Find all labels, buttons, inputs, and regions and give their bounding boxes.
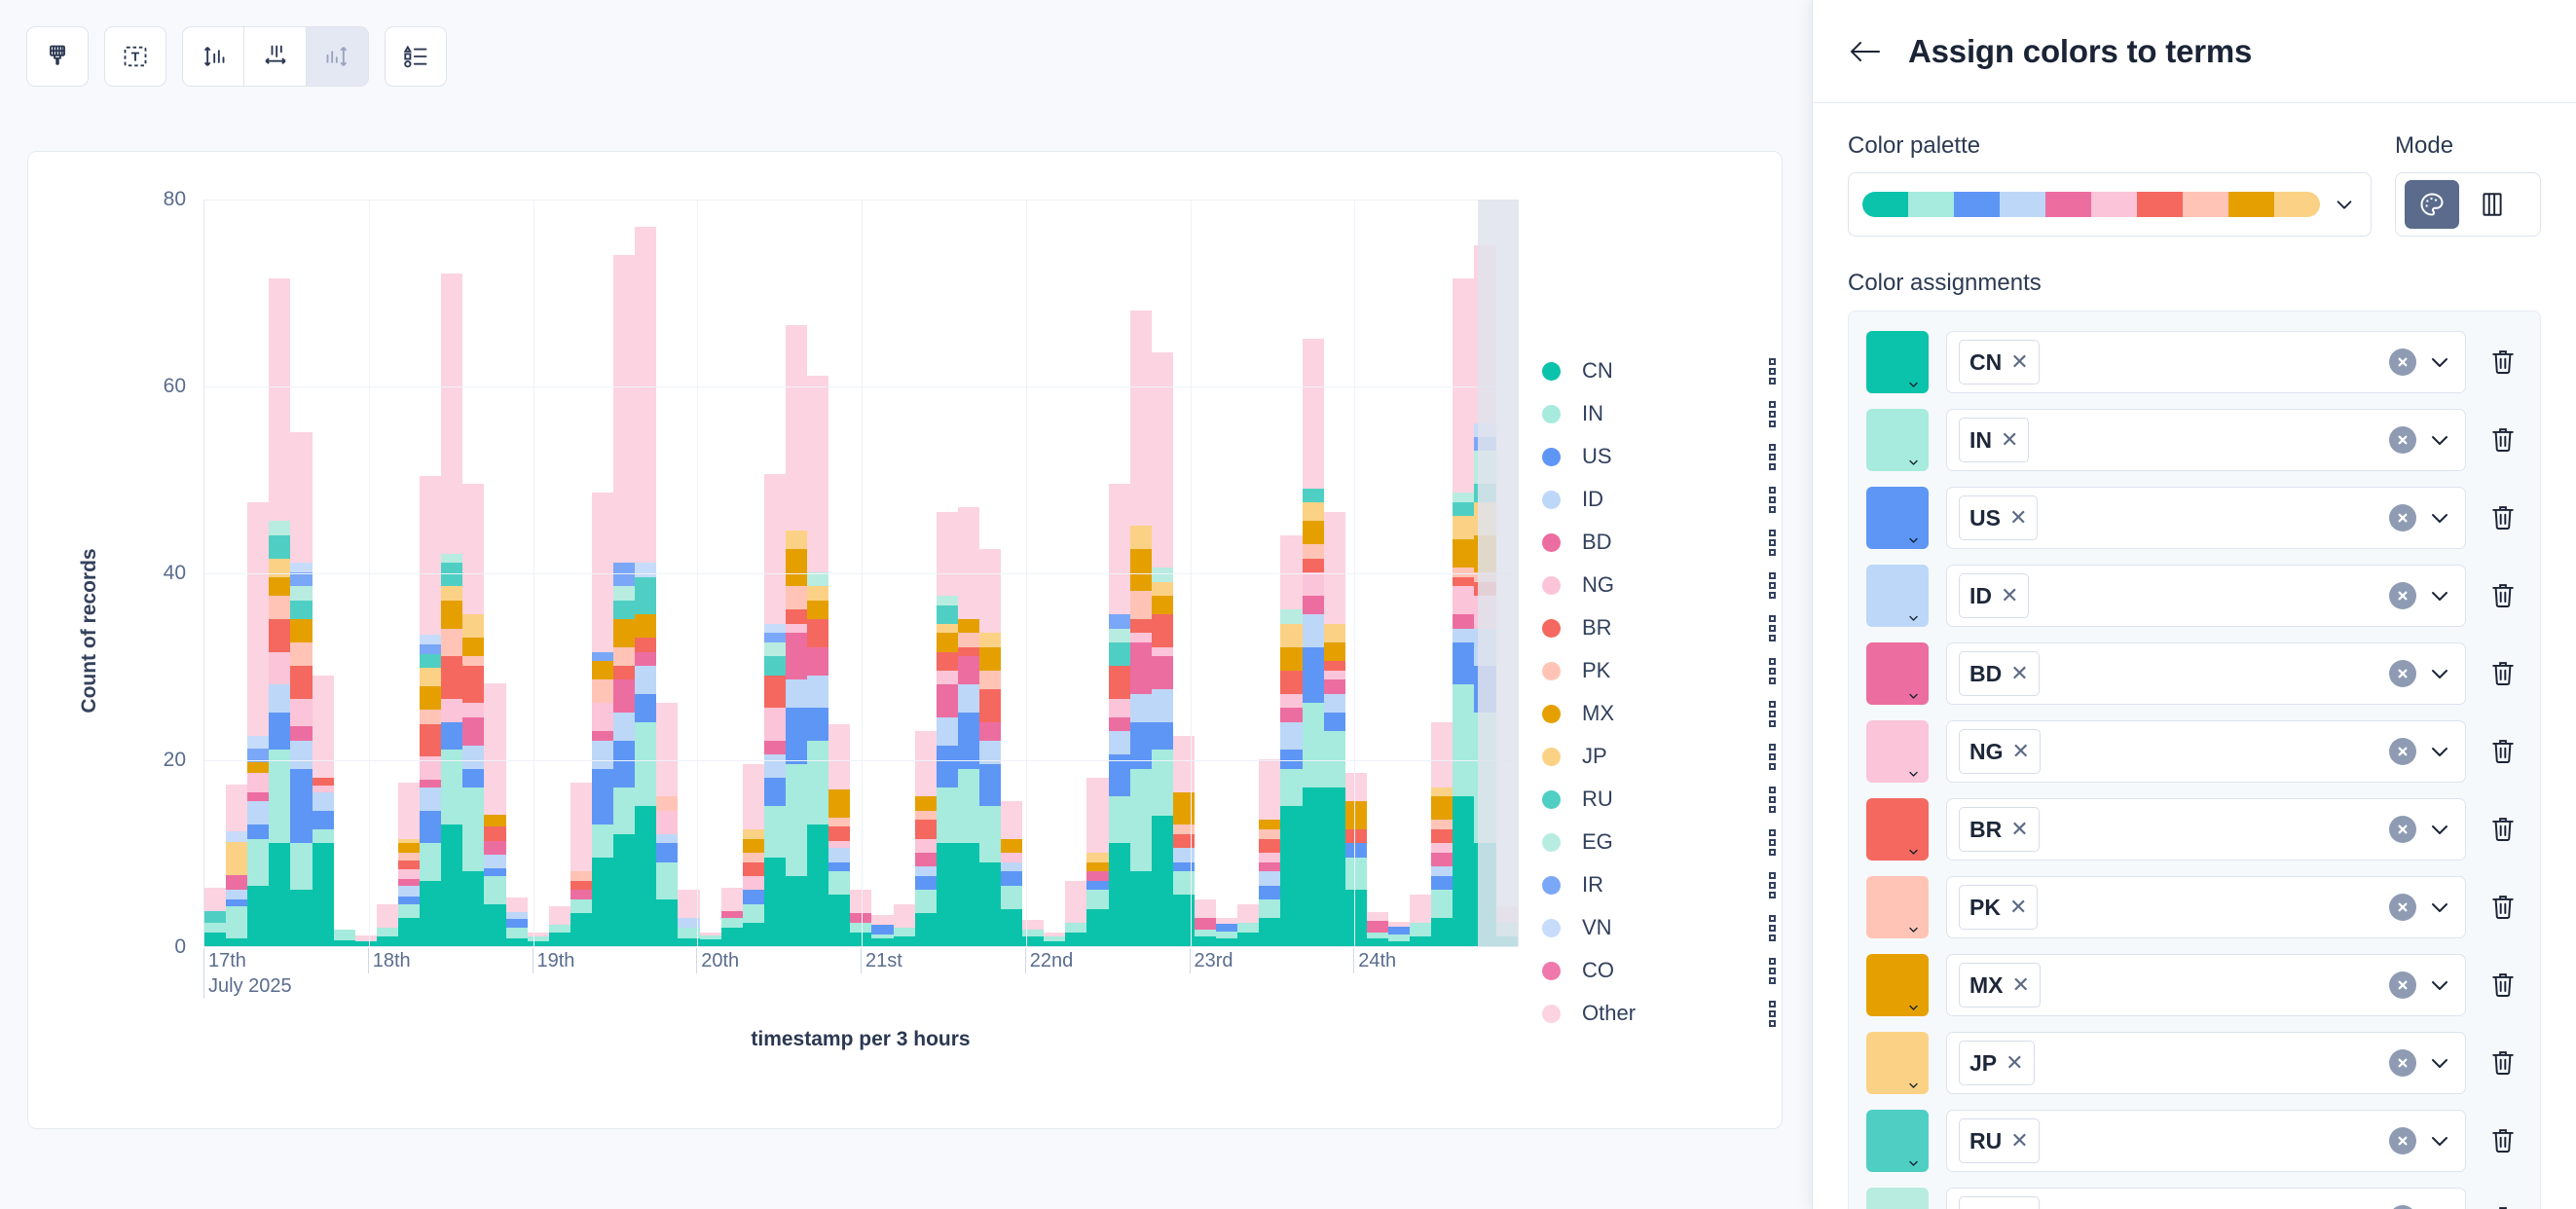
bar-segment[interactable] (828, 724, 850, 789)
bar-segment[interactable] (700, 939, 721, 946)
bar-segment[interactable] (462, 871, 484, 946)
bar-segment[interactable] (1453, 586, 1474, 614)
bar-segment[interactable] (462, 614, 484, 638)
bar-segment[interactable] (1130, 526, 1152, 549)
bar-segment[interactable] (269, 619, 290, 652)
delete-assignment-button[interactable] (2484, 425, 2522, 455)
arrow-left-icon[interactable] (1848, 38, 1881, 65)
bar-segment[interactable] (506, 919, 528, 928)
term-combobox[interactable]: BR✕ (1946, 798, 2466, 861)
clear-circle-icon[interactable] (2389, 660, 2416, 687)
bar-segment[interactable] (204, 888, 226, 911)
bar-segment[interactable] (592, 703, 613, 731)
bar-segment[interactable] (1280, 647, 1302, 671)
bar-segment[interactable] (1324, 679, 1345, 693)
bar-segment[interactable] (764, 624, 786, 634)
bar-segment[interactable] (1431, 876, 1453, 890)
clear-circle-icon[interactable] (2389, 426, 2416, 454)
bar-segment[interactable] (958, 843, 979, 946)
term-combobox[interactable]: NG✕ (1946, 720, 2466, 783)
bar-segment[interactable] (656, 796, 678, 810)
legend-item-bd[interactable]: BD (1542, 521, 1776, 564)
bar-segment[interactable] (1324, 661, 1345, 671)
bar-segment[interactable] (1324, 788, 1345, 946)
bar-segment[interactable] (1152, 689, 1173, 722)
bar-segment[interactable] (764, 656, 786, 675)
bar-segment[interactable] (1259, 871, 1280, 885)
bar-segment[interactable] (915, 913, 937, 946)
bar-segment[interactable] (1130, 722, 1152, 769)
bar-segment[interactable] (1280, 609, 1302, 623)
bar-segment[interactable] (937, 596, 958, 605)
bar-segment[interactable] (613, 586, 635, 600)
bar-segment[interactable] (1388, 927, 1410, 935)
bar-segment[interactable] (1216, 938, 1237, 946)
delete-assignment-button[interactable] (2484, 971, 2522, 1000)
bar-segment[interactable] (269, 843, 290, 946)
bar-segment[interactable] (1431, 866, 1453, 876)
bar-segment[interactable] (1303, 521, 1324, 544)
bar-segment[interactable] (506, 938, 528, 946)
color-palette-select[interactable] (1848, 172, 2372, 237)
legend-item-vn[interactable]: VN (1542, 906, 1776, 949)
bar-segment[interactable] (226, 899, 247, 906)
bar-segment[interactable] (1001, 839, 1022, 853)
bar-segment[interactable] (1152, 568, 1173, 581)
bar-segment[interactable] (828, 789, 850, 818)
bar-segment[interactable] (1130, 642, 1152, 694)
remove-term-icon[interactable]: ✕ (2010, 817, 2028, 842)
bar-segment[interactable] (269, 652, 290, 685)
delete-assignment-button[interactable] (2484, 581, 2522, 610)
bar-segment[interactable] (570, 913, 592, 946)
bar-segment[interactable] (613, 255, 635, 564)
bar-segment[interactable] (1431, 722, 1453, 788)
bar-segment[interactable] (462, 746, 484, 769)
remove-term-icon[interactable]: ✕ (2010, 349, 2028, 375)
bar-segment[interactable] (226, 938, 247, 946)
bar-segment[interactable] (635, 638, 656, 651)
bar-segment[interactable] (1303, 502, 1324, 521)
bar-segment[interactable] (1130, 769, 1152, 872)
bar-segment[interactable] (290, 769, 312, 844)
legend-item-id[interactable]: ID (1542, 478, 1776, 521)
bar-segment[interactable] (1280, 671, 1302, 694)
bar-segment[interactable] (247, 824, 269, 838)
chevron-down-icon[interactable] (2428, 740, 2451, 763)
bar-segment[interactable] (786, 708, 807, 764)
chevron-down-icon[interactable] (2428, 1129, 2451, 1153)
bar-segment[interactable] (721, 911, 743, 919)
bar-segment[interactable] (269, 684, 290, 713)
bar-segment[interactable] (313, 829, 334, 843)
legend-more-options-icon[interactable] (1769, 658, 1776, 684)
bar-segment[interactable] (613, 666, 635, 679)
bar-segment[interactable] (1259, 820, 1280, 829)
bar-segment[interactable] (226, 906, 247, 939)
bar-segment[interactable] (1195, 899, 1216, 918)
bar-segment[interactable] (592, 679, 613, 703)
bar-segment[interactable] (549, 925, 570, 933)
bar-segment[interactable] (786, 325, 807, 531)
bar-segment[interactable] (1109, 731, 1130, 754)
bar-segment[interactable] (656, 811, 678, 834)
delete-assignment-button[interactable] (2484, 737, 2522, 766)
bar-segment[interactable] (1109, 717, 1130, 731)
bar-segment[interactable] (656, 834, 678, 844)
bar-segment[interactable] (398, 783, 420, 839)
bar-segment[interactable] (1259, 862, 1280, 872)
legend-more-options-icon[interactable] (1769, 958, 1776, 984)
bar-segment[interactable] (1303, 572, 1324, 596)
term-combobox[interactable]: RU✕ (1946, 1110, 2466, 1172)
bar-segment[interactable] (1173, 895, 1195, 946)
clear-circle-icon[interactable] (2389, 738, 2416, 765)
bar-segment[interactable] (420, 654, 441, 668)
bar-segment[interactable] (1173, 736, 1195, 792)
bar-segment[interactable] (204, 933, 226, 946)
bar-segment[interactable] (1303, 703, 1324, 787)
bar-segment[interactable] (462, 788, 484, 871)
bar-segment[interactable] (1453, 629, 1474, 642)
bar-segment[interactable] (764, 676, 786, 709)
term-combobox[interactable]: IN✕ (1946, 409, 2466, 471)
bar-segment[interactable] (549, 933, 570, 946)
bar-segment[interactable] (1303, 788, 1324, 946)
bar-segment[interactable] (786, 679, 807, 708)
bar-segment[interactable] (786, 549, 807, 586)
bar-segment[interactable] (398, 861, 420, 870)
bar-segment[interactable] (937, 746, 958, 788)
bar-segment[interactable] (807, 824, 828, 946)
bar-segment[interactable] (915, 796, 937, 810)
delete-assignment-button[interactable] (2484, 815, 2522, 844)
bar-segment[interactable] (570, 783, 592, 871)
bar-segment[interactable] (1453, 614, 1474, 628)
bar-segment[interactable] (1130, 591, 1152, 619)
legend-item-other[interactable]: Other (1542, 992, 1776, 1035)
bar-segment[interactable] (592, 824, 613, 858)
bar-segment[interactable] (764, 754, 786, 778)
legend-more-options-icon[interactable] (1769, 444, 1776, 470)
bar-segment[interactable] (1195, 918, 1216, 930)
bar-segment[interactable] (462, 717, 484, 746)
bar-segment[interactable] (937, 624, 958, 634)
legend-item-ru[interactable]: RU (1542, 778, 1776, 821)
bar-segment[interactable] (247, 792, 269, 802)
bar-segment[interactable] (269, 750, 290, 843)
bar-segment[interactable] (592, 652, 613, 662)
bar-segment[interactable] (1431, 829, 1453, 843)
bar-segment[interactable] (226, 785, 247, 831)
bar-segment[interactable] (656, 843, 678, 861)
bar-segment[interactable] (313, 676, 334, 779)
legend-more-options-icon[interactable] (1769, 744, 1776, 770)
bar-segment[interactable] (871, 925, 893, 934)
bar-segment[interactable] (290, 601, 312, 619)
bar-segment[interactable] (1345, 890, 1367, 946)
bar-segment[interactable] (1237, 923, 1259, 933)
bar-segment[interactable] (1453, 493, 1474, 502)
bar-segment[interactable] (247, 762, 269, 774)
clear-circle-icon[interactable] (2389, 1049, 2416, 1077)
bar-segment[interactable] (1086, 890, 1108, 908)
bar-segment[interactable] (420, 811, 441, 844)
delete-assignment-button[interactable] (2484, 1204, 2522, 1209)
stack-vertical-icon-button[interactable] (307, 26, 369, 87)
bar-segment[interactable] (420, 635, 441, 644)
bar-segment[interactable] (764, 474, 786, 624)
bar-segment[interactable] (1280, 708, 1302, 721)
bar-segment[interactable] (807, 647, 828, 676)
bar-segment[interactable] (398, 918, 420, 946)
bar-segment[interactable] (1001, 853, 1022, 862)
bar-segment[interactable] (807, 619, 828, 647)
bar-segment[interactable] (269, 535, 290, 559)
bar-segment[interactable] (1195, 930, 1216, 937)
clear-circle-icon[interactable] (2389, 504, 2416, 531)
bar-segment[interactable] (743, 764, 764, 829)
bar-segment[interactable] (1367, 921, 1388, 933)
legend-more-options-icon[interactable] (1769, 401, 1776, 427)
bar-segment[interactable] (204, 911, 226, 923)
bar-segment[interactable] (398, 886, 420, 898)
term-combobox[interactable]: JP✕ (1946, 1032, 2466, 1094)
bar-segment[interactable] (1109, 629, 1130, 642)
legend-item-mx[interactable]: MX (1542, 692, 1776, 735)
bar-segment[interactable] (226, 842, 247, 875)
bar-segment[interactable] (1324, 624, 1345, 642)
bar-segment[interactable] (635, 614, 656, 638)
brush-icon-button[interactable] (26, 26, 89, 87)
bar-segment[interactable] (807, 376, 828, 572)
bar-segment[interactable] (1280, 722, 1302, 751)
bar-segment[interactable] (937, 671, 958, 684)
bar-segment[interactable] (786, 586, 807, 609)
bar-segment[interactable] (398, 869, 420, 879)
bar-segment[interactable] (743, 904, 764, 923)
clear-circle-icon[interactable] (2389, 894, 2416, 921)
bar-segment[interactable] (635, 652, 656, 666)
bar-segment[interactable] (915, 866, 937, 876)
remove-term-icon[interactable]: ✕ (2009, 505, 2027, 531)
bar-segment[interactable] (506, 898, 528, 911)
bar-segment[interactable] (1388, 934, 1410, 941)
bar-segment[interactable] (1345, 858, 1367, 891)
bar-segment[interactable] (1431, 843, 1453, 853)
bar-segment[interactable] (1130, 619, 1152, 633)
bar-segment[interactable] (204, 923, 226, 933)
bar-segment[interactable] (420, 724, 441, 757)
bar-segment[interactable] (937, 633, 958, 651)
bar-segment[interactable] (1130, 694, 1152, 722)
bar-segment[interactable] (743, 890, 764, 903)
remove-term-icon[interactable]: ✕ (2009, 895, 2027, 920)
bar-segment[interactable] (1086, 881, 1108, 891)
bar-segment[interactable] (441, 563, 462, 586)
bar-segment[interactable] (979, 689, 1001, 722)
bar-segment[interactable] (1303, 544, 1324, 558)
bar-segment[interactable] (484, 904, 505, 946)
bar-segment[interactable] (420, 843, 441, 880)
legend-more-options-icon[interactable] (1769, 572, 1776, 599)
bar-segment[interactable] (1259, 759, 1280, 820)
bar-segment[interactable] (441, 601, 462, 629)
bar-segment[interactable] (894, 936, 915, 946)
bar-segment[interactable] (764, 858, 786, 946)
bar-segment[interactable] (721, 918, 743, 928)
bar-segment[interactable] (1259, 918, 1280, 946)
bar-segment[interactable] (743, 923, 764, 946)
bar-segment[interactable] (937, 843, 958, 946)
bar-segment[interactable] (398, 843, 420, 853)
bar-segment[interactable] (462, 769, 484, 788)
bar-segment[interactable] (721, 928, 743, 946)
chevron-down-icon[interactable] (2428, 818, 2451, 841)
bar-segment[interactable] (549, 906, 570, 925)
bar-segment[interactable] (1410, 923, 1431, 936)
bar-segment[interactable] (420, 710, 441, 723)
legend-item-br[interactable]: BR (1542, 606, 1776, 649)
bar-segment[interactable] (915, 820, 937, 838)
gradient-mode-icon-button[interactable] (2465, 180, 2520, 229)
bar-segment[interactable] (1453, 516, 1474, 539)
bar-segment[interactable] (570, 881, 592, 891)
legend-item-pk[interactable]: PK (1542, 649, 1776, 692)
bar-segment[interactable] (1086, 778, 1108, 853)
bar-segment[interactable] (764, 806, 786, 858)
sort-vertical-icon-button[interactable] (182, 26, 244, 87)
bar-segment[interactable] (678, 928, 699, 939)
bar-segment[interactable] (958, 633, 979, 646)
bar-segment[interactable] (1453, 539, 1474, 568)
bar-segment[interactable] (915, 876, 937, 890)
bar-segment[interactable] (290, 572, 312, 586)
legend-item-cn[interactable]: CN (1542, 349, 1776, 392)
bar-segment[interactable] (570, 899, 592, 913)
remove-term-icon[interactable]: ✕ (2006, 1050, 2023, 1076)
bar-segment[interactable] (1324, 642, 1345, 661)
bar-segment[interactable] (1303, 489, 1324, 502)
bar-segment[interactable] (377, 936, 398, 946)
bar-segment[interactable] (937, 788, 958, 844)
bar-segment[interactable] (1109, 642, 1130, 666)
bar-segment[interactable] (1152, 582, 1173, 596)
bar-segment[interactable] (635, 694, 656, 722)
bar-segment[interactable] (1173, 792, 1195, 825)
bar-segment[interactable] (1280, 624, 1302, 647)
bar-segment[interactable] (269, 278, 290, 522)
remove-term-icon[interactable]: ✕ (2001, 583, 2018, 608)
bar-segment[interactable] (1109, 666, 1130, 699)
delete-assignment-button[interactable] (2484, 1126, 2522, 1155)
bar-segment[interactable] (420, 788, 441, 811)
bar-segment[interactable] (592, 858, 613, 946)
bar-segment[interactable] (226, 875, 247, 890)
bar-segment[interactable] (247, 801, 269, 824)
bar-segment[interactable] (1453, 796, 1474, 946)
remove-term-icon[interactable]: ✕ (2012, 972, 2030, 998)
bar-segment[interactable] (1065, 881, 1086, 923)
bar-segment[interactable] (1388, 941, 1410, 946)
bar-segment[interactable] (1130, 311, 1152, 526)
bar-segment[interactable] (592, 731, 613, 741)
bar-segment[interactable] (1130, 633, 1152, 642)
bar-segment[interactable] (979, 722, 1001, 741)
bar-segment[interactable] (958, 647, 979, 657)
color-swatch-picker[interactable] (1866, 487, 1929, 549)
bar-segment[interactable] (635, 577, 656, 614)
bar-segment[interactable] (506, 928, 528, 939)
legend-more-options-icon[interactable] (1769, 872, 1776, 898)
text-box-icon-button[interactable] (104, 26, 166, 87)
chevron-down-icon[interactable] (2428, 1051, 2451, 1075)
legend-item-in[interactable]: IN (1542, 392, 1776, 435)
plot-area[interactable] (203, 200, 1518, 947)
bar-segment[interactable] (1324, 512, 1345, 624)
bar-segment[interactable] (1086, 871, 1108, 881)
bar-segment[interactable] (678, 918, 699, 928)
bar-segment[interactable] (313, 786, 334, 792)
bar-segment[interactable] (807, 676, 828, 709)
legend-more-options-icon[interactable] (1769, 787, 1776, 813)
delete-assignment-button[interactable] (2484, 1048, 2522, 1078)
bar-segment[interactable] (313, 792, 334, 811)
bar-segment[interactable] (828, 871, 850, 895)
bar-segment[interactable] (290, 699, 312, 727)
bar-segment[interactable] (1259, 886, 1280, 899)
bar-segment[interactable] (613, 619, 635, 647)
bar-segment[interactable] (678, 890, 699, 918)
bar-segment[interactable] (613, 563, 635, 586)
bar-segment[interactable] (1001, 871, 1022, 885)
bar-segment[interactable] (786, 609, 807, 623)
bar-segment[interactable] (613, 834, 635, 946)
bar-segment[interactable] (398, 904, 420, 918)
bar-segment[interactable] (290, 619, 312, 642)
chevron-down-icon[interactable] (2428, 350, 2451, 374)
chevron-down-icon[interactable] (2428, 584, 2451, 607)
bar-segment[interactable] (570, 871, 592, 881)
bar-segment[interactable] (979, 806, 1001, 862)
bar-segment[interactable] (592, 661, 613, 679)
legend-more-options-icon[interactable] (1769, 829, 1776, 856)
bar-segment[interactable] (1065, 933, 1086, 946)
bar-segment[interactable] (764, 741, 786, 754)
bar-segment[interactable] (1431, 788, 1453, 797)
bar-segment[interactable] (894, 928, 915, 937)
bar-segment[interactable] (441, 656, 462, 698)
bar-segment[interactable] (915, 890, 937, 913)
bar-segment[interactable] (1410, 895, 1431, 923)
bar-segment[interactable] (1152, 647, 1173, 657)
bar-segment[interactable] (807, 708, 828, 741)
bar-segment[interactable] (377, 904, 398, 928)
bar-segment[interactable] (979, 764, 1001, 806)
bar-segment[interactable] (1367, 938, 1388, 946)
bar-segment[interactable] (355, 941, 377, 946)
clear-circle-icon[interactable] (2389, 1205, 2416, 1209)
bar-segment[interactable] (462, 703, 484, 716)
term-combobox[interactable]: EG✕ (1946, 1188, 2466, 1209)
bar-segment[interactable] (1280, 806, 1302, 946)
bar-segment[interactable] (871, 915, 893, 925)
bar-segment[interactable] (786, 624, 807, 634)
clear-circle-icon[interactable] (2389, 971, 2416, 999)
legend-more-options-icon[interactable] (1769, 1001, 1776, 1027)
bar-segment[interactable] (1130, 549, 1152, 591)
bar-segment[interactable] (807, 601, 828, 619)
